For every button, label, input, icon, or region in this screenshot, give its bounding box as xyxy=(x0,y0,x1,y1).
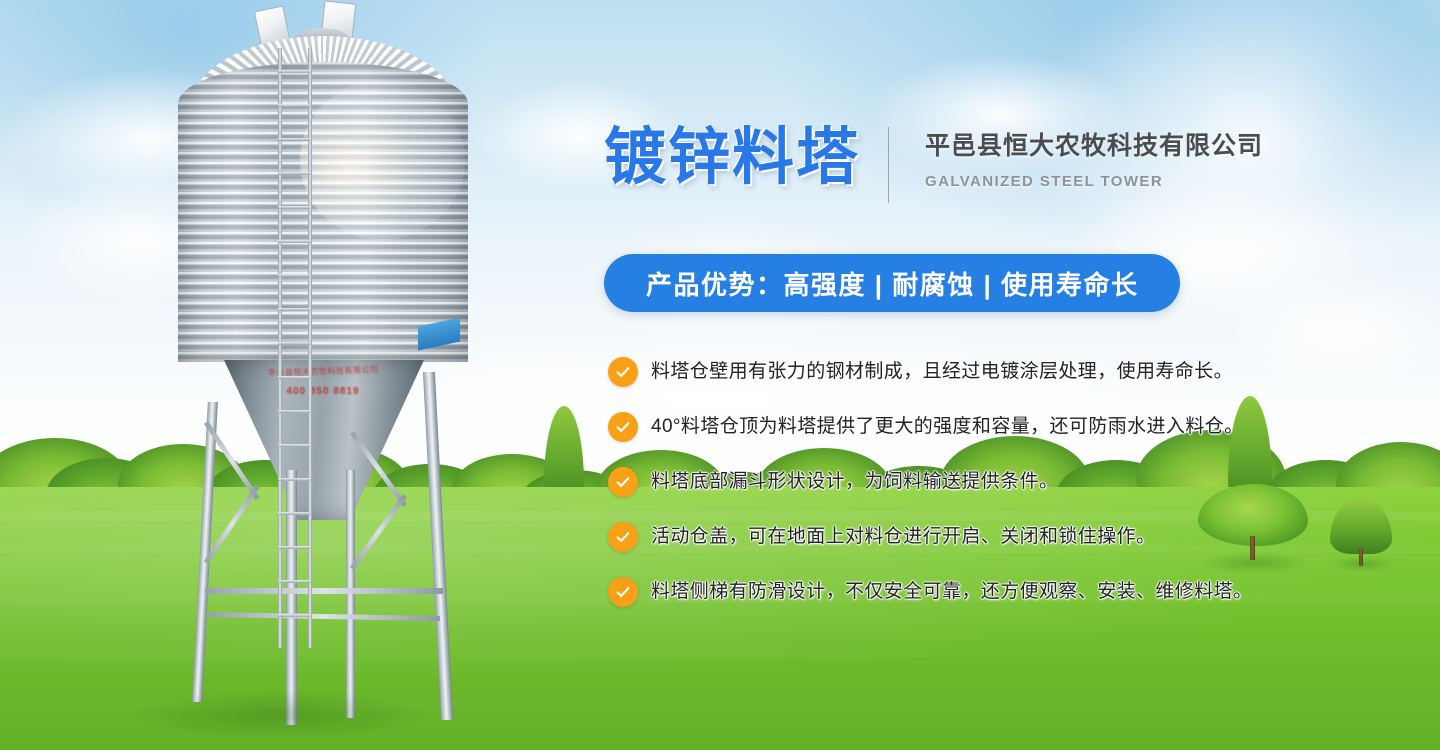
feature-list: 料塔仓壁用有张力的钢材制成，且经过电镀涂层处理，使用寿命长。 40°料塔仓顶为料… xyxy=(608,356,1308,631)
company-name: 平邑县恒大农牧科技有限公司 xyxy=(925,129,1263,163)
feature-item: 活动仓盖，可在地面上对料仓进行开启、关闭和锁住操作。 xyxy=(608,521,1308,555)
check-circle-icon xyxy=(608,522,638,552)
feature-text: 料塔侧梯有防滑设计，不仅安全可靠，还方便观察、安装、维修料塔。 xyxy=(651,576,1252,608)
feature-text: 料塔仓壁用有张力的钢材制成，且经过电镀涂层处理，使用寿命长。 xyxy=(651,356,1233,388)
title-divider xyxy=(888,127,889,203)
advantage-badge: 产品优势：高强度 | 耐腐蚀 | 使用寿命长 xyxy=(604,254,1180,312)
page-title: 镀锌料塔 xyxy=(604,123,860,193)
feature-item: 料塔仓壁用有张力的钢材制成，且经过电镀涂层处理，使用寿命长。 xyxy=(608,356,1308,390)
banner-content: 镀锌料塔 平邑县恒大农牧科技有限公司 GALVANIZED STEEL TOWE… xyxy=(604,0,1304,750)
check-circle-icon xyxy=(608,577,638,607)
check-circle-icon xyxy=(608,412,638,442)
check-circle-icon xyxy=(608,357,638,387)
feature-text: 料塔底部漏斗形状设计，为饲料输送提供条件。 xyxy=(651,466,1058,498)
feature-text: 活动仓盖，可在地面上对料仓进行开启、关闭和锁住操作。 xyxy=(651,521,1155,553)
title-row: 镀锌料塔 平邑县恒大农牧科技有限公司 GALVANIZED STEEL TOWE… xyxy=(604,123,1263,203)
feature-text: 40°料塔仓顶为料塔提供了更大的强度和容量，还可防雨水进入料仓。 xyxy=(651,411,1244,443)
company-name-en: GALVANIZED STEEL TOWER xyxy=(925,169,1263,195)
feature-item: 料塔侧梯有防滑设计，不仅安全可靠，还方便观察、安装、维修料塔。 xyxy=(608,576,1308,610)
feature-item: 40°料塔仓顶为料塔提供了更大的强度和容量，还可防雨水进入料仓。 xyxy=(608,411,1308,445)
check-circle-icon xyxy=(608,467,638,497)
company-block: 平邑县恒大农牧科技有限公司 GALVANIZED STEEL TOWER xyxy=(925,123,1263,195)
product-banner: 平邑县恒大农牧科技有限公司 400 850 8819 xyxy=(0,0,1440,750)
advantage-badge-label: 产品优势：高强度 | 耐腐蚀 | 使用寿命长 xyxy=(646,265,1138,302)
feature-item: 料塔底部漏斗形状设计，为饲料输送提供条件。 xyxy=(608,466,1308,500)
